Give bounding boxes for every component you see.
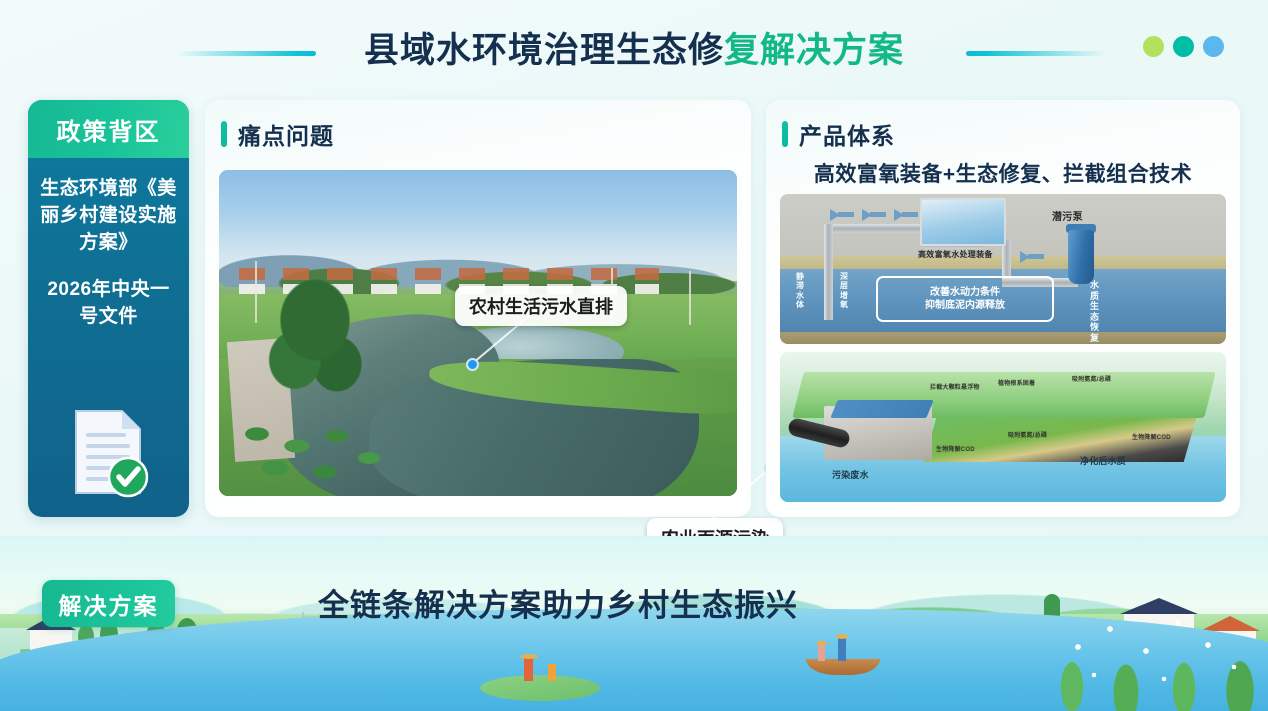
banner-grass-island [480,675,600,701]
diagram1-flow-arrow [902,212,918,217]
photo-lotus-leaves [235,418,405,490]
policy-text-line2: 2026年中央一号文件 [38,277,179,331]
banner-person-hat [816,641,827,645]
diagram2-label-cod-right: 生物降解COD [1132,432,1171,441]
solution-banner-title: 全链条解决方案助力乡村生态振兴 [318,580,798,625]
diagram1-label-pump: 潜污泵 [1052,212,1083,224]
diagram1-label-stagnant: 静滞水体 [796,272,806,310]
diagram2-label-adsorb-top: 吸附氨氮/总磷 [1072,374,1111,383]
banner-person-straw-hat [520,654,538,659]
product-title-row: 产品体系 [766,100,1240,151]
diagram1-bed [780,332,1226,344]
banner-flowers [1038,601,1268,711]
diagram1-flow-arrow [830,209,840,221]
diagram1-flow-arrow [862,209,872,221]
page-title-main: 县域水环境治理生态修 [364,31,724,70]
page-header: 县域水环境治理生态修复解决方案 [0,0,1268,92]
banner-person-farmer [524,657,533,681]
callout-pin-icon [466,358,479,371]
page-title-accent: 复解决方案 [724,31,904,70]
product-system-card: 产品体系 高效富氧装备+生态修复、拦截组合技术 静滞水体 深层增氧 高效富氧水处… [766,100,1240,517]
diagram1-label-deep-oxygen: 深层增氧 [840,272,850,310]
policy-card-body: 生态环境部《美丽乡村建设实施方案》 2026年中央一号文件 [28,158,189,331]
policy-background-card: 政策背区 生态环境部《美丽乡村建设实施方案》 2026年中央一号文件 [28,100,189,517]
header-dots [1143,36,1224,57]
diagram1-label-device: 高效富氧水处理装备 [918,250,993,259]
banner-person-hat [836,634,848,639]
policy-card-header: 政策背区 [28,100,189,158]
pain-points-card: 痛点问题 农村生活污水直排 小微水体黑臭 农业面源污染 [205,100,751,517]
diagram1-flow-arrow [894,209,904,221]
product-subtitle: 高效富氧装备+生态修复、拦截组合技术 [766,158,1240,188]
policy-text-line1: 生态环境部《美丽乡村建设实施方案》 [38,176,179,257]
diagram1-pipe-down-left [824,224,833,320]
diagram2-label-intercept: 拦截大颗粒悬浮物 [930,382,980,391]
solution-badge-label: 解决方案 [59,587,159,621]
diagram1-pipe-horizontal [824,224,932,233]
policy-doc-icon-wrap [28,407,189,499]
pain-points-title: 痛点问题 [238,117,334,151]
dot-blue-icon [1203,36,1224,57]
interception-diagram: 拦截大颗粒悬浮物 植物根系固着 吸附氨氮/总磷 吸附氨氮/总磷 生物降解COD … [780,352,1226,502]
document-check-icon [66,407,152,499]
product-title: 产品体系 [799,117,895,151]
diagram2-label-roots: 植物根系固着 [998,378,1035,387]
diagram1-callout-line2: 抑制底泥内源释放 [925,299,1005,313]
photo-utility-pole [255,261,257,323]
solution-banner: 解决方案 全链条解决方案助力乡村生态振兴 [0,536,1268,711]
banner-person-child [548,664,556,681]
accent-bar-icon [782,121,788,147]
policy-card-header-label: 政策背区 [57,112,161,147]
diagram1-flow-arrow [838,212,854,217]
diagram2-label-inlet: 污染废水 [832,468,869,481]
diagram2-label-adsorb-mid: 吸附氨氮/总磷 [1008,430,1047,439]
diagram1-flow-arrow [1020,251,1030,263]
pain-points-title-row: 痛点问题 [205,100,751,151]
diagram2-basin-surface [830,400,933,418]
solution-badge: 解决方案 [42,580,175,627]
photo-utility-pole [689,271,691,325]
diagram1-flow-arrow [1028,254,1044,259]
dot-teal-icon [1173,36,1194,57]
diagram1-pump-body [1068,230,1094,284]
diagram1-callout-line1: 改善水动力条件 [930,286,1000,300]
banner-person-adult [838,637,846,661]
callout-label-sewage: 农村生活污水直排 [455,286,627,326]
diagram2-label-outlet: 净化后水质 [1080,454,1126,467]
diagram1-callout-box: 改善水动力条件 抑制底泥内源释放 [876,276,1054,322]
diagram1-device-panel [920,198,1006,246]
pain-points-photo [219,170,737,496]
oxygenation-diagram: 静滞水体 深层增氧 高效富氧水处理装备 潜污泵 水质生态恢复 改善水动力条件 抑… [780,194,1226,344]
diagram1-flow-arrow [870,212,886,217]
page-title: 县域水环境治理生态修复解决方案 [0,22,1268,73]
accent-bar-icon [221,121,227,147]
photo-foreground-tree [267,268,363,428]
dot-green-icon [1143,36,1164,57]
diagram2-label-cod-left: 生物降解COD [936,444,975,453]
diagram1-label-restore: 水质生态恢复 [1090,280,1100,344]
banner-person-child [818,643,825,661]
